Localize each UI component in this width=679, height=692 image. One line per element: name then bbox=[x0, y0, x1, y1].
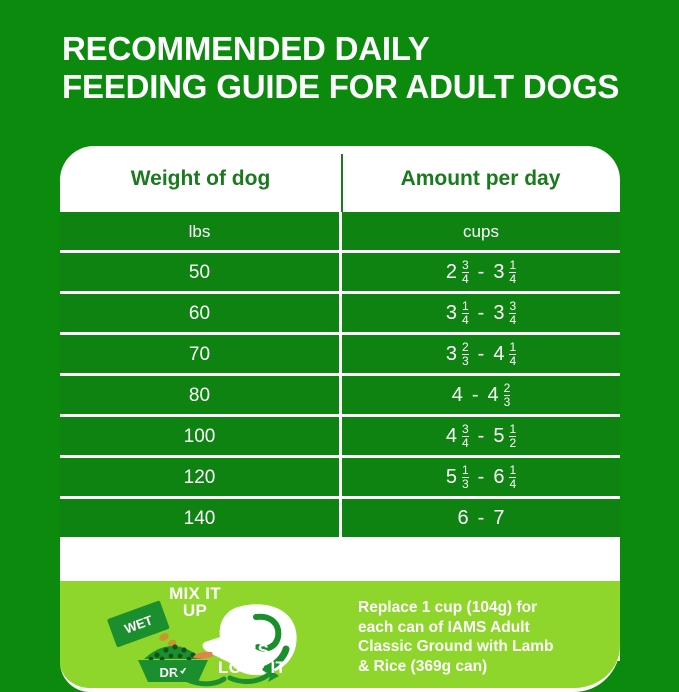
weight-cell: 120 bbox=[60, 458, 339, 496]
amount-whole: 2 bbox=[446, 262, 457, 282]
amount-fraction: 14 bbox=[509, 464, 516, 489]
weight-cell: 80 bbox=[60, 376, 339, 414]
amount-fraction: 34 bbox=[509, 300, 516, 325]
page-title-line-2: FEEDING GUIDE FOR ADULT DOGS bbox=[62, 68, 662, 106]
note-line-1: Replace 1 cup (104g) for bbox=[358, 599, 537, 616]
amount-cell: 234-314 bbox=[342, 253, 620, 291]
amount-whole: 7 bbox=[493, 508, 504, 528]
feeding-guide-graphic: RECOMMENDED DAILY FEEDING GUIDE FOR ADUL… bbox=[0, 0, 679, 679]
amount-whole: 4 bbox=[487, 385, 498, 405]
table-header-row: Weight of dog Amount per day bbox=[60, 146, 620, 212]
amount-cell: 513-614 bbox=[342, 458, 620, 496]
amount-fraction: 14 bbox=[509, 259, 516, 284]
amount-whole: 3 bbox=[493, 262, 504, 282]
table-body: lbs cups 50 234-314 60 314-334 70 323-41… bbox=[60, 212, 620, 661]
mix-label-line-2: UP bbox=[183, 601, 207, 620]
amount-range: 4-423 bbox=[452, 382, 511, 407]
weight-cell: 60 bbox=[60, 294, 339, 332]
amount-fraction: 34 bbox=[462, 423, 469, 448]
weight-cell: 70 bbox=[60, 335, 339, 373]
mix-it-up-label: MIX IT UP bbox=[140, 585, 250, 619]
amount-fraction: 14 bbox=[509, 341, 516, 366]
unit-cell-cups: cups bbox=[342, 212, 620, 250]
amount-range: 434-512 bbox=[446, 423, 516, 448]
amount-whole: 5 bbox=[493, 426, 504, 446]
table-row: 60 314-334 bbox=[60, 294, 620, 332]
page-title-line-1: RECOMMENDED DAILY bbox=[62, 30, 662, 68]
note-line-2: each can of IAMS Adult bbox=[358, 619, 530, 636]
amount-whole: 4 bbox=[452, 385, 463, 405]
weight-cell: 50 bbox=[60, 253, 339, 291]
amount-cell: 323-414 bbox=[342, 335, 620, 373]
range-separator: - bbox=[478, 467, 485, 487]
mix-it-up-graphic: WET bbox=[60, 581, 350, 688]
header-column-divider bbox=[341, 154, 343, 212]
amount-range: 6-7 bbox=[458, 508, 505, 528]
amount-cell: 4-423 bbox=[342, 376, 620, 414]
weight-cell: 140 bbox=[60, 499, 339, 537]
table-row: 140 6-7 bbox=[60, 499, 620, 537]
replacement-note: Replace 1 cup (104g) for each can of IAM… bbox=[358, 598, 608, 676]
dogs-love-it-label: DOGS LOVE IT bbox=[218, 642, 346, 676]
amount-cell: 434-512 bbox=[342, 417, 620, 455]
range-separator: - bbox=[478, 303, 485, 323]
amount-fraction: 23 bbox=[462, 341, 469, 366]
amount-range: 323-414 bbox=[446, 341, 516, 366]
table-row: 50 234-314 bbox=[60, 253, 620, 291]
amount-fraction: 23 bbox=[504, 382, 511, 407]
amount-fraction: 14 bbox=[462, 300, 469, 325]
note-line-4: & Rice (369g can) bbox=[358, 658, 487, 675]
amount-whole: 5 bbox=[446, 467, 457, 487]
unit-cell-lbs: lbs bbox=[60, 212, 339, 250]
note-line-3: Classic Ground with Lamb bbox=[358, 638, 554, 655]
amount-fraction: 34 bbox=[462, 259, 469, 284]
amount-fraction: 13 bbox=[462, 464, 469, 489]
page-title: RECOMMENDED DAILY FEEDING GUIDE FOR ADUL… bbox=[62, 30, 662, 106]
range-separator: - bbox=[478, 262, 485, 282]
amount-range: 314-334 bbox=[446, 300, 516, 325]
amount-range: 513-614 bbox=[446, 464, 516, 489]
range-separator: - bbox=[478, 426, 485, 446]
amount-whole: 3 bbox=[446, 303, 457, 323]
table-row: 100 434-512 bbox=[60, 417, 620, 455]
mix-it-up-panel: WET bbox=[60, 581, 620, 692]
table-row: 120 513-614 bbox=[60, 458, 620, 496]
range-separator: - bbox=[478, 508, 485, 528]
amount-whole: 6 bbox=[493, 467, 504, 487]
feeding-table: Weight of dog Amount per day lbs cups 50… bbox=[60, 146, 620, 626]
amount-whole: 3 bbox=[493, 303, 504, 323]
amount-cell: 314-334 bbox=[342, 294, 620, 332]
column-header-weight: Weight of dog bbox=[60, 146, 341, 212]
table-row: 70 323-414 bbox=[60, 335, 620, 373]
dogs-label-line-2: LOVE IT bbox=[218, 658, 286, 677]
table-row: 80 4-423 bbox=[60, 376, 620, 414]
column-header-amount: Amount per day bbox=[341, 146, 620, 212]
range-separator: - bbox=[478, 344, 485, 364]
amount-whole: 4 bbox=[446, 426, 457, 446]
amount-whole: 6 bbox=[458, 508, 469, 528]
table-row-units: lbs cups bbox=[60, 212, 620, 250]
amount-cell: 6-7 bbox=[342, 499, 620, 537]
dry-bowl-icon: DRY bbox=[138, 644, 208, 682]
range-separator: - bbox=[472, 385, 479, 405]
amount-fraction: 12 bbox=[509, 423, 516, 448]
amount-whole: 3 bbox=[446, 344, 457, 364]
amount-range: 234-314 bbox=[446, 259, 516, 284]
amount-whole: 4 bbox=[493, 344, 504, 364]
weight-cell: 100 bbox=[60, 417, 339, 455]
